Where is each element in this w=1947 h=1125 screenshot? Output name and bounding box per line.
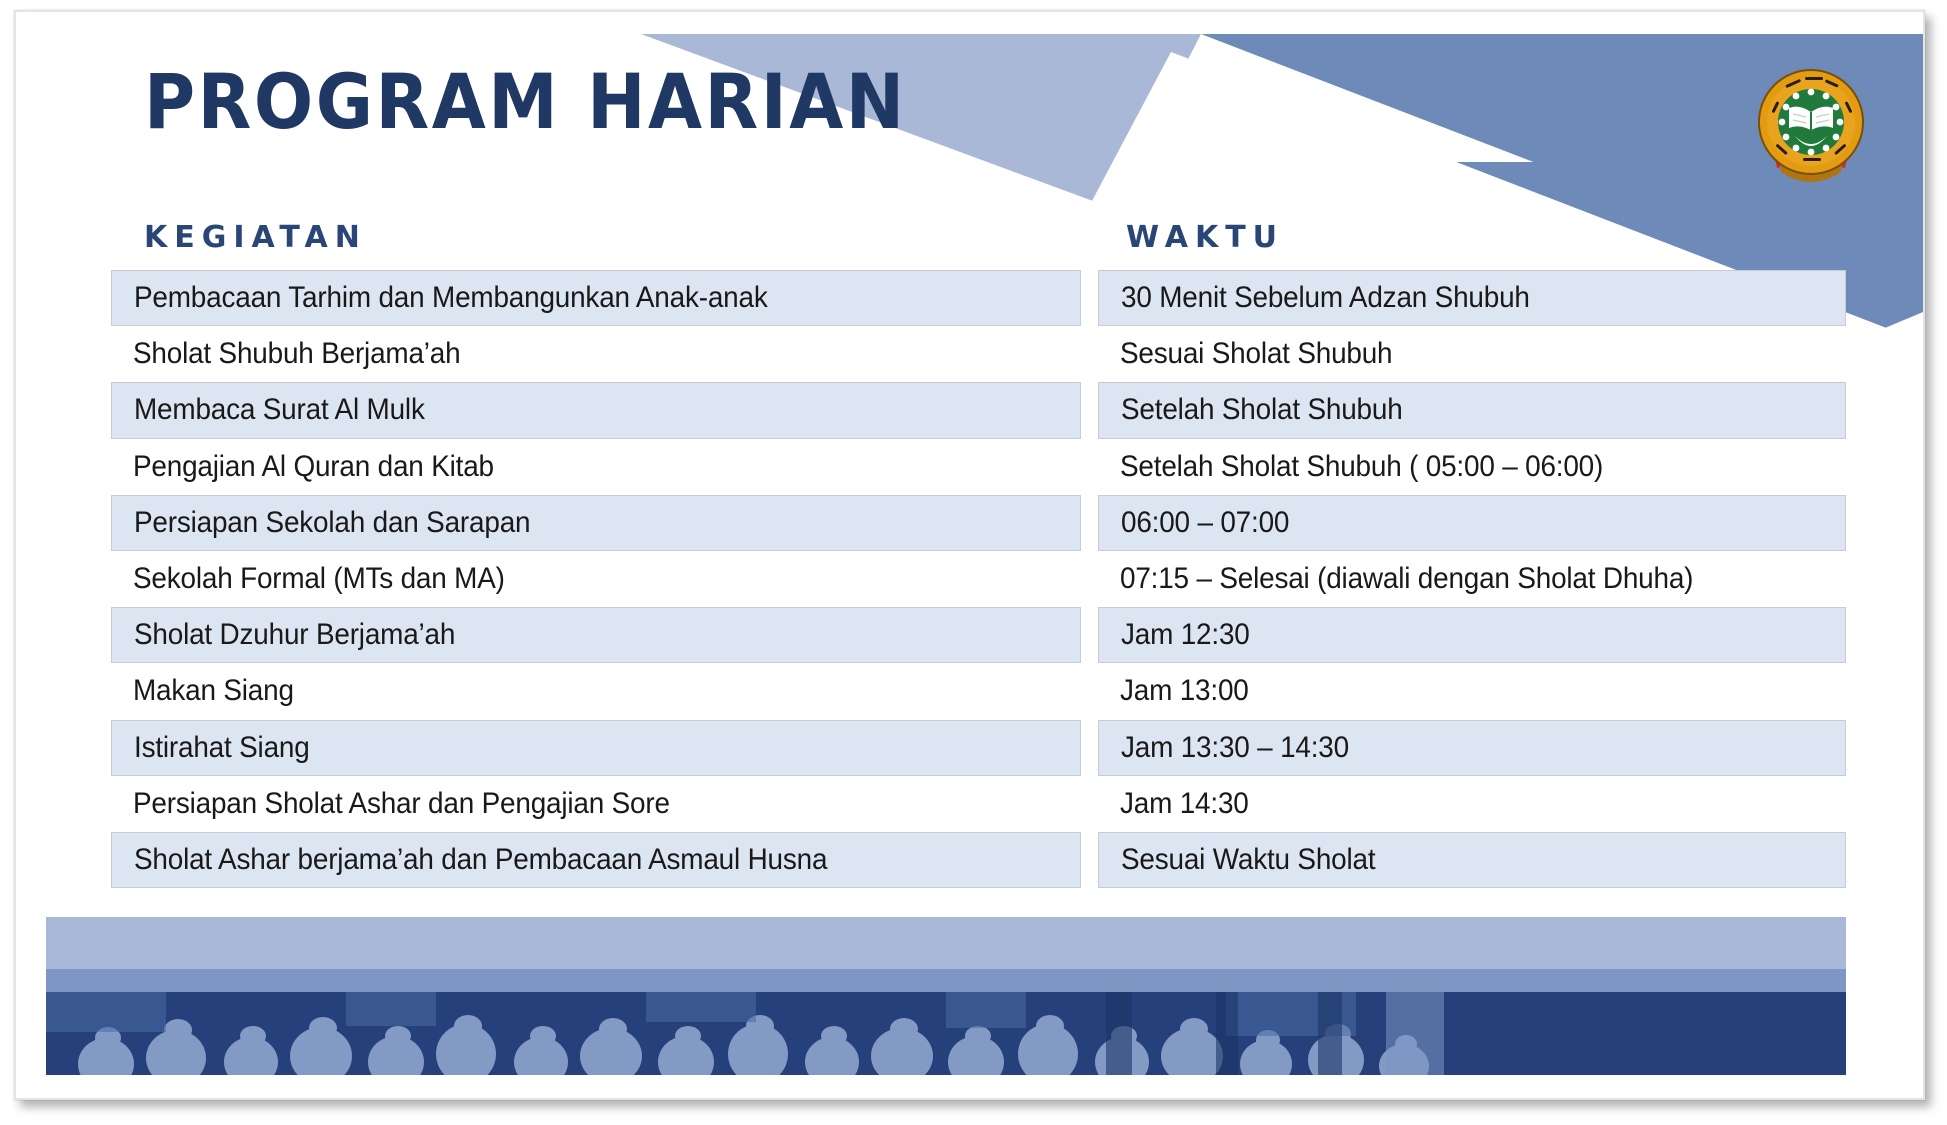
cell-waktu-text: Jam 13:30 – 14:30	[1121, 731, 1349, 765]
table-row: Membaca Surat Al MulkSetelah Sholat Shub…	[16, 382, 1923, 438]
cell-waktu-text: 06:00 – 07:00	[1121, 506, 1289, 540]
cell-kegiatan: Sholat Dzuhur Berjama’ah	[111, 607, 1081, 663]
cell-waktu: Setelah Sholat Shubuh ( 05:00 – 06:00)	[1098, 439, 1846, 495]
cell-kegiatan: Sekolah Formal (MTs dan MA)	[111, 551, 1081, 607]
cell-waktu-text: Jam 12:30	[1121, 618, 1250, 652]
footer-photo-strip	[46, 917, 1846, 1075]
page-title: PROGRAM HARIAN	[144, 64, 907, 140]
cell-waktu: Sesuai Sholat Shubuh	[1098, 326, 1846, 382]
table-row: Persiapan Sholat Ashar dan Pengajian Sor…	[16, 776, 1923, 832]
cell-kegiatan: Membaca Surat Al Mulk	[111, 382, 1081, 438]
cell-waktu-text: Setelah Sholat Shubuh	[1121, 393, 1403, 427]
table-row: Sekolah Formal (MTs dan MA)07:15 – Seles…	[16, 551, 1923, 607]
cell-kegiatan-text: Sekolah Formal (MTs dan MA)	[133, 562, 505, 596]
table-row: Sholat Dzuhur Berjama’ahJam 12:30	[16, 607, 1923, 663]
cell-kegiatan-text: Istirahat Siang	[134, 731, 310, 765]
column-header-waktu: WAKTU	[1126, 220, 1284, 255]
cell-kegiatan: Persiapan Sekolah dan Sarapan	[111, 495, 1081, 551]
table-row: Pembacaan Tarhim dan Membangunkan Anak-a…	[16, 270, 1923, 326]
cell-waktu: Jam 14:30	[1098, 776, 1846, 832]
cell-waktu-text: Setelah Sholat Shubuh ( 05:00 – 06:00)	[1120, 450, 1603, 484]
cell-kegiatan-text: Persiapan Sholat Ashar dan Pengajian Sor…	[133, 787, 670, 821]
cell-waktu: 06:00 – 07:00	[1098, 495, 1846, 551]
cell-waktu-text: 30 Menit Sebelum Adzan Shubuh	[1121, 281, 1530, 315]
cell-kegiatan: Sholat Shubuh Berjama’ah	[111, 326, 1081, 382]
cell-kegiatan-text: Sholat Ashar berjama’ah dan Pembacaan As…	[134, 843, 827, 877]
table-row: Sholat Shubuh Berjama’ahSesuai Sholat Sh…	[16, 326, 1923, 382]
cell-kegiatan-text: Persiapan Sekolah dan Sarapan	[134, 506, 530, 540]
cell-kegiatan-text: Sholat Dzuhur Berjama’ah	[134, 618, 455, 652]
photo-svg	[46, 992, 1846, 1075]
cell-kegiatan-text: Sholat Shubuh Berjama’ah	[133, 337, 460, 371]
cell-waktu-text: 07:15 – Selesai (diawali dengan Sholat D…	[1120, 562, 1693, 596]
santri-congregation-photo	[46, 992, 1846, 1075]
cell-waktu: 30 Menit Sebelum Adzan Shubuh	[1098, 270, 1846, 326]
cell-waktu: Setelah Sholat Shubuh	[1098, 382, 1846, 438]
slide-frame: PROGRAM HARIAN KEGIATAN WAKTU Pembacaan …	[14, 10, 1925, 1100]
cell-kegiatan: Pengajian Al Quran dan Kitab	[111, 439, 1081, 495]
cell-waktu: Jam 12:30	[1098, 607, 1846, 663]
table-row: Istirahat SiangJam 13:30 – 14:30	[16, 720, 1923, 776]
cell-kegiatan: Pembacaan Tarhim dan Membangunkan Anak-a…	[111, 270, 1081, 326]
strip-band-mid	[46, 969, 1846, 992]
cell-waktu-text: Jam 14:30	[1120, 787, 1249, 821]
table-row: Persiapan Sekolah dan Sarapan06:00 – 07:…	[16, 495, 1923, 551]
pondok-pesantren-logo	[1749, 60, 1873, 188]
cell-kegiatan: Sholat Ashar berjama’ah dan Pembacaan As…	[111, 832, 1081, 888]
cell-waktu-text: Sesuai Waktu Sholat	[1121, 843, 1375, 877]
table-row: Makan SiangJam 13:00	[16, 663, 1923, 719]
schedule-table: Pembacaan Tarhim dan Membangunkan Anak-a…	[16, 270, 1923, 888]
table-row: Pengajian Al Quran dan KitabSetelah Shol…	[16, 439, 1923, 495]
cell-waktu-text: Sesuai Sholat Shubuh	[1120, 337, 1392, 371]
cell-kegiatan: Makan Siang	[111, 663, 1081, 719]
cell-kegiatan-text: Pengajian Al Quran dan Kitab	[133, 450, 494, 484]
cell-waktu: Sesuai Waktu Sholat	[1098, 832, 1846, 888]
cell-kegiatan: Persiapan Sholat Ashar dan Pengajian Sor…	[111, 776, 1081, 832]
table-row: Sholat Ashar berjama’ah dan Pembacaan As…	[16, 832, 1923, 888]
photo-light-column	[1386, 992, 1444, 1075]
cell-kegiatan-text: Membaca Surat Al Mulk	[134, 393, 425, 427]
photo-solid-right	[1436, 992, 1846, 1075]
cell-waktu: Jam 13:30 – 14:30	[1098, 720, 1846, 776]
cell-waktu: 07:15 – Selesai (diawali dengan Sholat D…	[1098, 551, 1846, 607]
logo-svg	[1749, 60, 1873, 188]
cell-waktu: Jam 13:00	[1098, 663, 1846, 719]
cell-kegiatan: Istirahat Siang	[111, 720, 1081, 776]
cell-kegiatan-text: Pembacaan Tarhim dan Membangunkan Anak-a…	[134, 281, 768, 315]
column-header-kegiatan: KEGIATAN	[144, 220, 367, 255]
strip-band-light	[46, 917, 1846, 969]
cell-waktu-text: Jam 13:00	[1120, 674, 1249, 708]
cell-kegiatan-text: Makan Siang	[133, 674, 294, 708]
